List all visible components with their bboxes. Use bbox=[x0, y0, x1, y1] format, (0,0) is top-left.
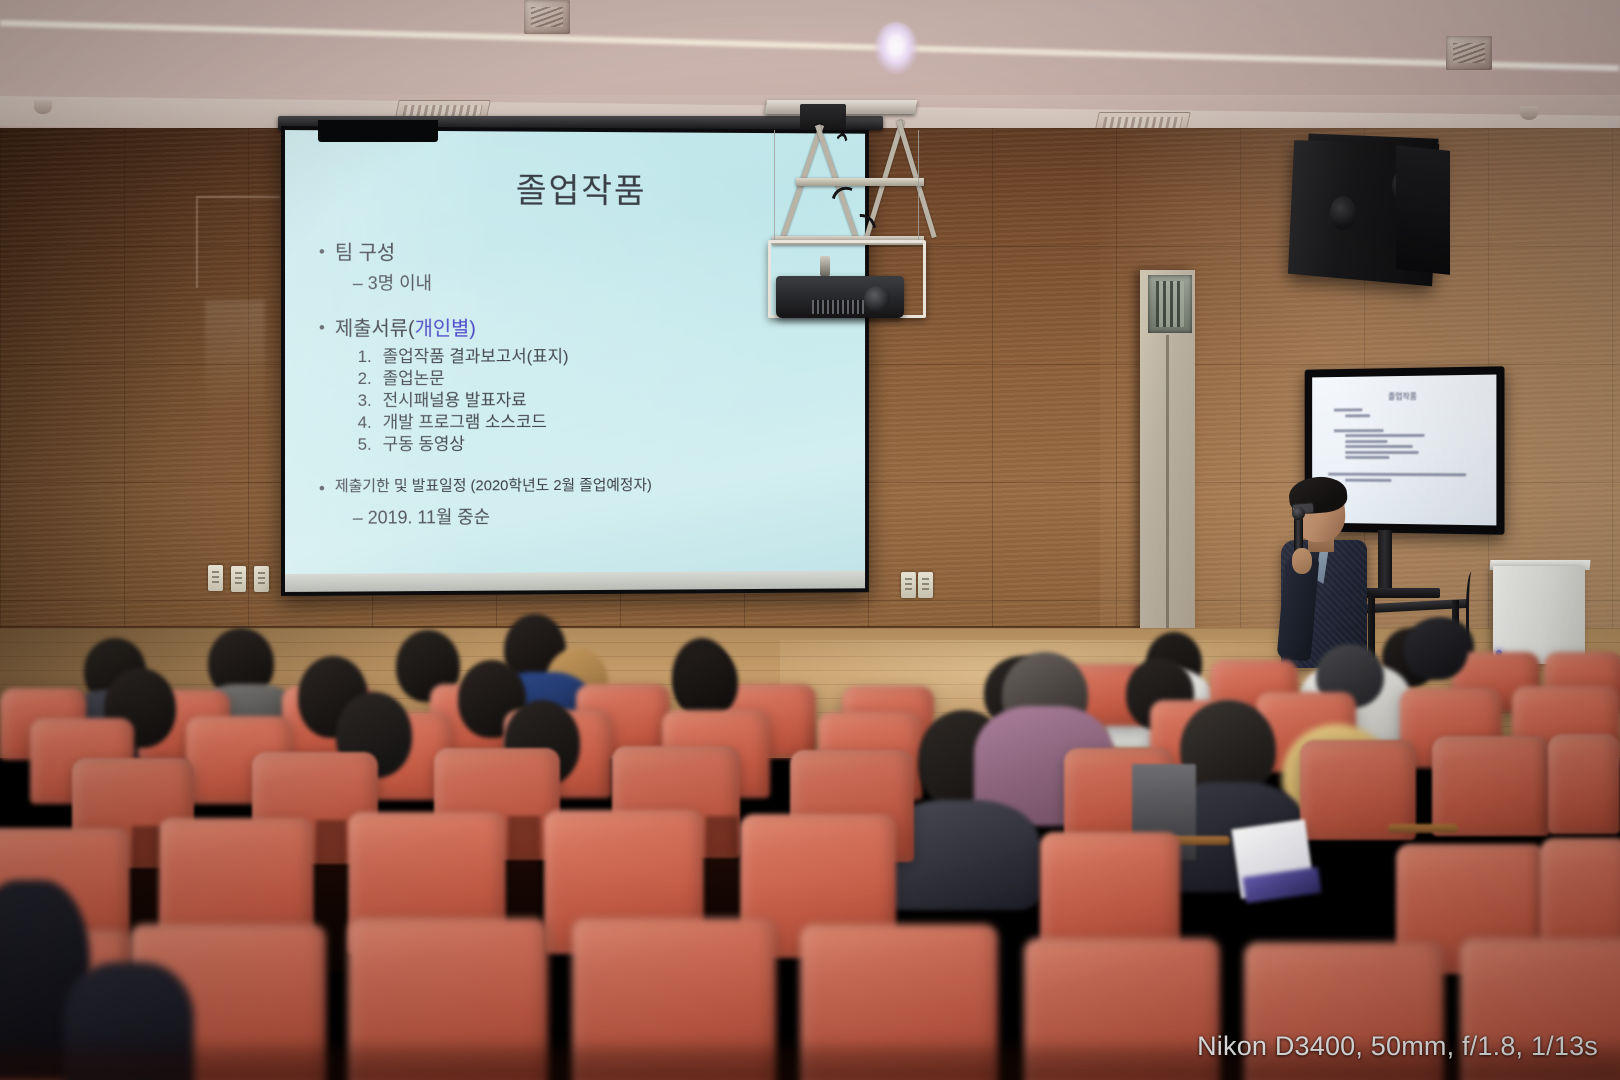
slide-bullet-3-text: 제출기한 및 발표일정 (2020학년도 2월 졸업예정자) bbox=[335, 477, 652, 497]
monitor-text-line bbox=[1328, 473, 1466, 477]
slide-content: 졸업작품 • 팀 구성 – 3명 이내 • 제출서류(개인별) 1. 졸업작품 … bbox=[285, 130, 865, 574]
speaker-driver-icon bbox=[1330, 196, 1356, 230]
seat-armrest bbox=[1388, 824, 1458, 833]
slide-bullet-1-text: 팀 구성 bbox=[335, 241, 395, 266]
wall-outlet-icon[interactable] bbox=[208, 565, 223, 591]
wall-outlet-icon[interactable] bbox=[254, 566, 269, 592]
monitor-slide-title: 졸업작품 bbox=[1321, 390, 1488, 403]
monitor-text-line bbox=[1334, 408, 1363, 411]
ceiling-vent-icon bbox=[524, 0, 570, 34]
list-item-index: 2. bbox=[353, 368, 372, 390]
slide-title: 졸업작품 bbox=[319, 162, 840, 213]
wall-scuff-mark bbox=[205, 300, 265, 420]
list-item: 3. 전시패널용 발표자료 bbox=[353, 390, 840, 412]
projection-screen: 졸업작품 • 팀 구성 – 3명 이내 • 제출서류(개인별) 1. 졸업작품 … bbox=[281, 126, 869, 596]
list-item-label: 졸업논문 bbox=[383, 368, 445, 390]
slide-bullet-2-accent: 개인별 bbox=[415, 318, 470, 340]
safety-wire bbox=[918, 130, 919, 242]
list-item: 2. 졸업논문 bbox=[353, 368, 840, 390]
monitor-text-line bbox=[1345, 445, 1413, 448]
list-item-index: 3. bbox=[353, 390, 372, 412]
ceiling-downlight-icon bbox=[874, 22, 918, 74]
list-item-index: 4. bbox=[353, 412, 372, 434]
monitor-text-line bbox=[1345, 434, 1424, 437]
bullet-marker-icon: • bbox=[319, 317, 325, 340]
safety-wire bbox=[774, 130, 775, 242]
auditorium-photo: 졸업작품 • 팀 구성 – 3명 이내 • 제출서류(개인별) 1. 졸업작품 … bbox=[0, 0, 1620, 1080]
camera-watermark: Nikon D3400, 50mm, f/1.8, 1/13s bbox=[1197, 1031, 1598, 1062]
audience-head-beanie bbox=[1404, 618, 1468, 680]
slide-bullet-1: • 팀 구성 bbox=[319, 241, 840, 267]
lectern bbox=[1493, 566, 1585, 664]
monitor-text-line bbox=[1345, 451, 1418, 454]
sprinkler-icon bbox=[34, 100, 52, 114]
slide-numbered-list: 1. 졸업작품 결과보고서(표지) 2. 졸업논문 3. 전시패널용 발표자료 … bbox=[353, 346, 840, 456]
slide-bullet-3: • 제출기한 및 발표일정 (2020학년도 2월 졸업예정자) bbox=[319, 477, 840, 502]
ceiling-upper bbox=[0, 0, 1620, 100]
projector-adjust-knob[interactable] bbox=[820, 256, 830, 276]
slide-bullet-2: • 제출서류(개인별) bbox=[319, 317, 840, 342]
monitor-stand-neck bbox=[1378, 530, 1392, 590]
list-item: 5. 구동 동영상 bbox=[353, 433, 840, 456]
slide-bullet-2-prefix: 제출서류( bbox=[335, 318, 415, 340]
list-item-index: 1. bbox=[353, 346, 372, 368]
screen-bottom-bar bbox=[285, 571, 865, 592]
slide-bullet-2-text: 제출서류(개인별) bbox=[335, 317, 476, 342]
list-item-label: 졸업작품 결과보고서(표지) bbox=[383, 346, 569, 368]
monitor-text-line bbox=[1345, 414, 1370, 417]
screen-shadow-notch bbox=[318, 120, 438, 142]
ceiling-vent-icon bbox=[1446, 36, 1492, 70]
list-item-index: 5. bbox=[353, 434, 372, 456]
monitor-text-line bbox=[1334, 429, 1384, 432]
presenter-hand bbox=[1292, 548, 1312, 574]
audience-seat[interactable] bbox=[1548, 734, 1620, 834]
wall-outlet-icon[interactable] bbox=[918, 572, 933, 598]
audience-seat[interactable] bbox=[1432, 736, 1550, 836]
sprinkler-icon bbox=[1520, 106, 1538, 120]
projection-screen-surface: 졸업작품 • 팀 구성 – 3명 이내 • 제출서류(개인별) 1. 졸업작품 … bbox=[285, 130, 865, 574]
wall-grille-icon bbox=[1148, 275, 1192, 333]
bullet-marker-icon: • bbox=[319, 478, 325, 501]
list-item: 1. 졸업작품 결과보고서(표지) bbox=[353, 346, 840, 368]
wall-scuff-mark bbox=[196, 196, 280, 288]
monitor-text-line bbox=[1345, 456, 1389, 459]
list-item-label: 전시패널용 발표자료 bbox=[383, 390, 527, 412]
scissor-crossbar bbox=[796, 178, 924, 186]
monitor-text-line bbox=[1345, 478, 1391, 481]
slide-bullet-2-suffix: ) bbox=[469, 318, 476, 340]
projector-vent-icon bbox=[812, 300, 864, 314]
list-item-label: 개발 프로그램 소스코드 bbox=[383, 412, 547, 434]
slide-sub-1: – 3명 이내 bbox=[353, 269, 840, 296]
list-item-label: 구동 동영상 bbox=[383, 434, 465, 456]
wall-outlet-icon[interactable] bbox=[901, 572, 916, 598]
slide-sub-3: – 2019. 11월 중순 bbox=[353, 502, 840, 530]
alcove-seam bbox=[1166, 335, 1169, 650]
wall-outlet-icon[interactable] bbox=[231, 566, 246, 592]
bullet-marker-icon: • bbox=[319, 241, 325, 264]
pa-speaker-bracket bbox=[1396, 145, 1450, 275]
list-item: 4. 개발 프로그램 소스코드 bbox=[353, 411, 840, 434]
monitor-text-line bbox=[1345, 440, 1387, 443]
audience-head bbox=[676, 646, 738, 718]
